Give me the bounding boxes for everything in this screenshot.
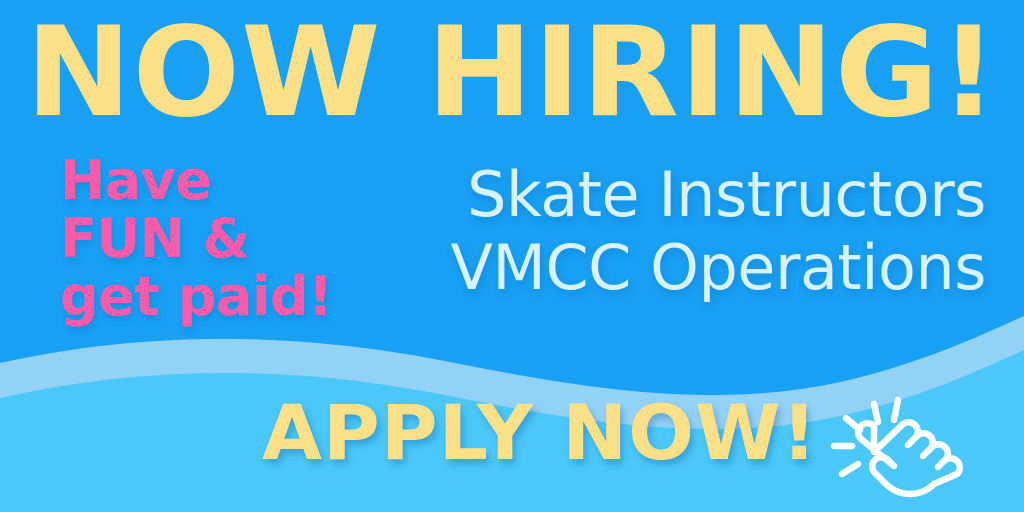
job-listing-skate-instructors: Skate Instructors bbox=[346, 158, 986, 231]
page-title: NOW HIRING! bbox=[0, 8, 1024, 138]
apply-now-cta[interactable]: APPLY NOW! bbox=[262, 392, 818, 474]
tagline-line-3: get paid! bbox=[60, 268, 360, 326]
job-listing-vmcc-operations: VMCC Operations bbox=[346, 231, 986, 304]
job-listings: Skate Instructors VMCC Operations bbox=[346, 158, 986, 304]
hand-outline-icon bbox=[858, 422, 960, 494]
tap-hand-icon bbox=[818, 388, 998, 506]
tagline-line-1: Have bbox=[60, 152, 360, 210]
tagline-line-2: FUN & bbox=[60, 210, 360, 268]
now-hiring-banner: NOW HIRING! Have FUN & get paid! Skate I… bbox=[0, 0, 1024, 512]
tagline: Have FUN & get paid! bbox=[60, 152, 360, 326]
